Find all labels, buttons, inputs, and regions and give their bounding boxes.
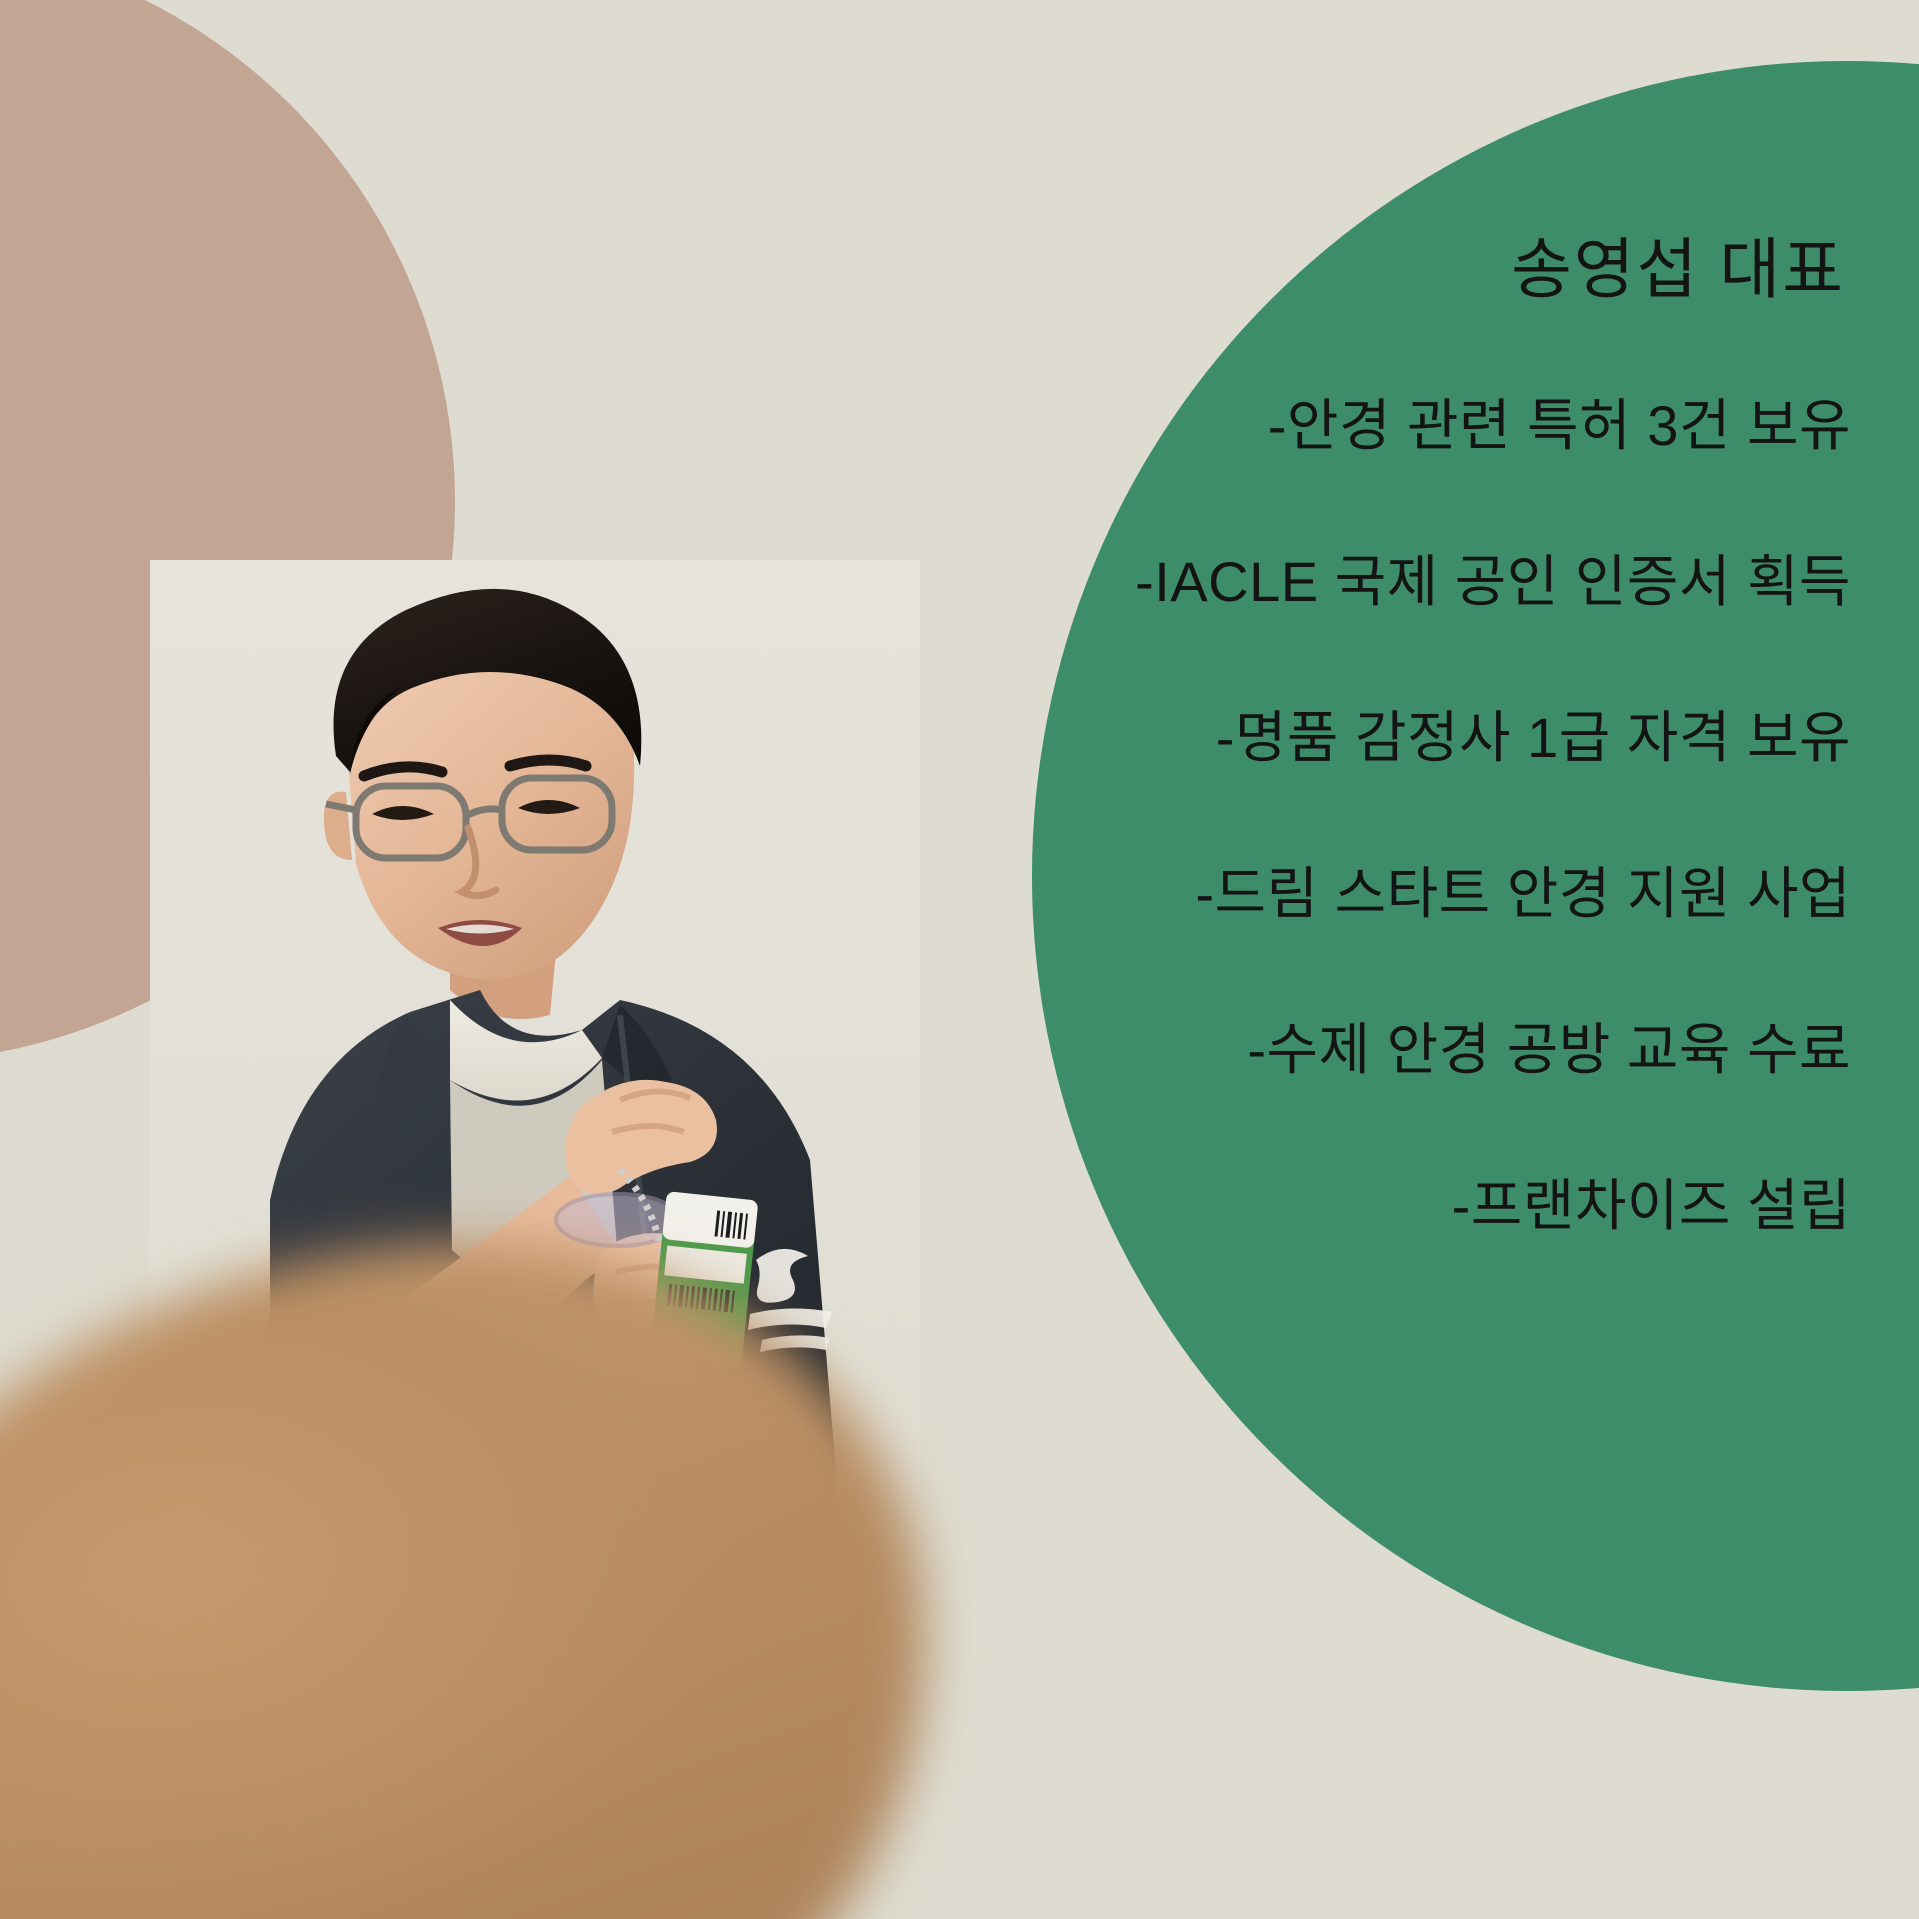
poster-canvas: 송영섭 대표 -안경 관련 특허 3건 보유 -IACLE 국제 공인 인증서 … <box>0 0 1919 1919</box>
credential-item-4: -드림 스타트 안경 지원 사업 <box>831 859 1851 929</box>
credential-item-5: -수제 안경 공방 교육 수료 <box>831 1015 1851 1085</box>
page-title: 송영섭 대표 <box>831 230 1851 309</box>
credential-item-3: -명품 감정사 1급 자격 보유 <box>831 703 1851 773</box>
profile-text-panel: 송영섭 대표 -안경 관련 특허 3건 보유 -IACLE 국제 공인 인증서 … <box>831 230 1851 1241</box>
credential-item-2: -IACLE 국제 공인 인증서 획득 <box>831 547 1851 617</box>
credential-item-1: -안경 관련 특허 3건 보유 <box>831 391 1851 461</box>
credential-item-6: -프랜차이즈 설립 <box>831 1171 1851 1241</box>
